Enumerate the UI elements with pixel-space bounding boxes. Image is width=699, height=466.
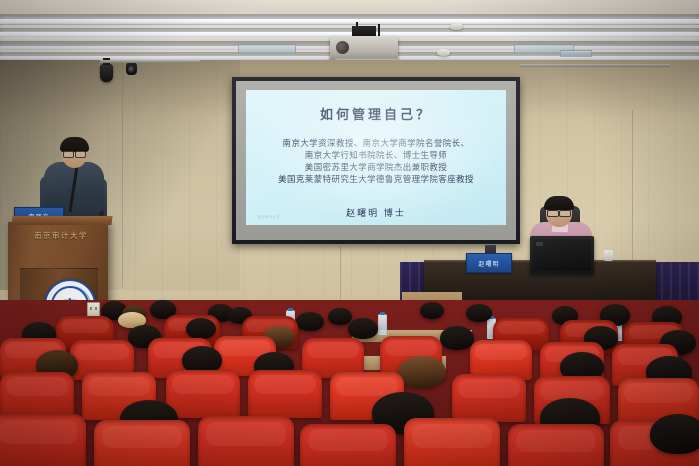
audience-seat [248, 370, 322, 418]
audience-seat [404, 418, 500, 466]
slide-watermark: 南京审计大学 [258, 214, 280, 219]
wall-panel-seam [122, 62, 123, 287]
audience-seat [166, 370, 240, 418]
water-bottle [378, 314, 387, 335]
smoke-detector-icon [437, 49, 450, 56]
audience-head [398, 356, 446, 388]
audience-seat [508, 424, 604, 466]
presentation-slide: 如何管理自己？ 南京大学资深教授、南京大学商学院名誉院长、 南京大学行知书院院长… [246, 90, 506, 225]
wall-camera-icon [126, 62, 137, 75]
smoke-detector-icon [450, 23, 463, 30]
presenter-hair [60, 137, 89, 152]
audience-head [348, 318, 378, 339]
ceiling-band [0, 0, 699, 14]
audience-seat [0, 372, 74, 420]
audience-head [186, 318, 216, 339]
camera-lens-icon [128, 66, 135, 73]
slide-speaker-name: 赵曙明 博士 [246, 206, 506, 219]
audience-head [650, 414, 699, 454]
ceiling-light-strip-1 [0, 19, 699, 24]
slide-credential-line: 南京大学行知书院院长、博士生导师 [250, 150, 502, 162]
slide-title: 如何管理自己？ [246, 104, 506, 123]
wall-mount-rail [100, 60, 200, 63]
projector-lens-icon [336, 41, 349, 54]
audience-head [420, 302, 444, 319]
audience-head [296, 312, 324, 331]
audience-seat [198, 416, 294, 466]
slide-credential-line: 美国密苏里大学商学院杰出兼职教授 [250, 162, 502, 174]
ceiling-vent-left [238, 44, 296, 54]
slide-credential-line: 美国克莱蒙特研究生大学德鲁克管理学院客座教授 [250, 174, 502, 186]
audience-head [440, 326, 474, 350]
laptop-logo-icon [536, 242, 543, 246]
seated-speaker-hair [544, 196, 574, 210]
ceiling-vent-right-2 [560, 50, 592, 57]
wall-speaker-icon [100, 64, 113, 82]
screen-matte-border: 如何管理自己？ 南京大学资深教授、南京大学商学院名誉院长、 南京大学行知书院院长… [236, 81, 516, 240]
audience-head [466, 304, 492, 322]
wall-panel-seam [340, 246, 341, 306]
slide-credentials: 南京大学资深教授、南京大学商学院名誉院长、 南京大学行知书院院长、博士生导师 美… [250, 138, 502, 186]
audience-head [328, 308, 352, 325]
slide-credential-line: 南京大学资深教授、南京大学商学院名誉院长、 [250, 138, 502, 150]
projection-screen: 如何管理自己？ 南京大学资深教授、南京大学商学院名誉院长、 南京大学行知书院院长… [232, 77, 520, 244]
head-table-nameplate: 赵曙明 [466, 253, 512, 273]
seated-speaker-glasses-icon [547, 210, 571, 215]
ceiling-projector [330, 36, 398, 62]
podium-university-name: 南京审计大学 [18, 230, 104, 241]
presenter-glasses-icon [63, 151, 86, 156]
lecture-hall-photo: 如何管理自己？ 南京大学资深教授、南京大学商学院名誉院长、 南京大学行知书院院长… [0, 0, 699, 466]
audience-seat [0, 414, 86, 466]
wall-power-outlet [87, 302, 100, 317]
table-cup-white [604, 250, 613, 261]
audience-seat [94, 420, 190, 466]
laptop-computer [530, 236, 594, 274]
audience-seat [300, 424, 396, 466]
audience-seat [452, 374, 526, 422]
podium-top-surface [11, 216, 112, 225]
head-table-nameplate-text: 赵曙明 [478, 259, 499, 268]
wall-mount-rail-right [520, 64, 670, 67]
